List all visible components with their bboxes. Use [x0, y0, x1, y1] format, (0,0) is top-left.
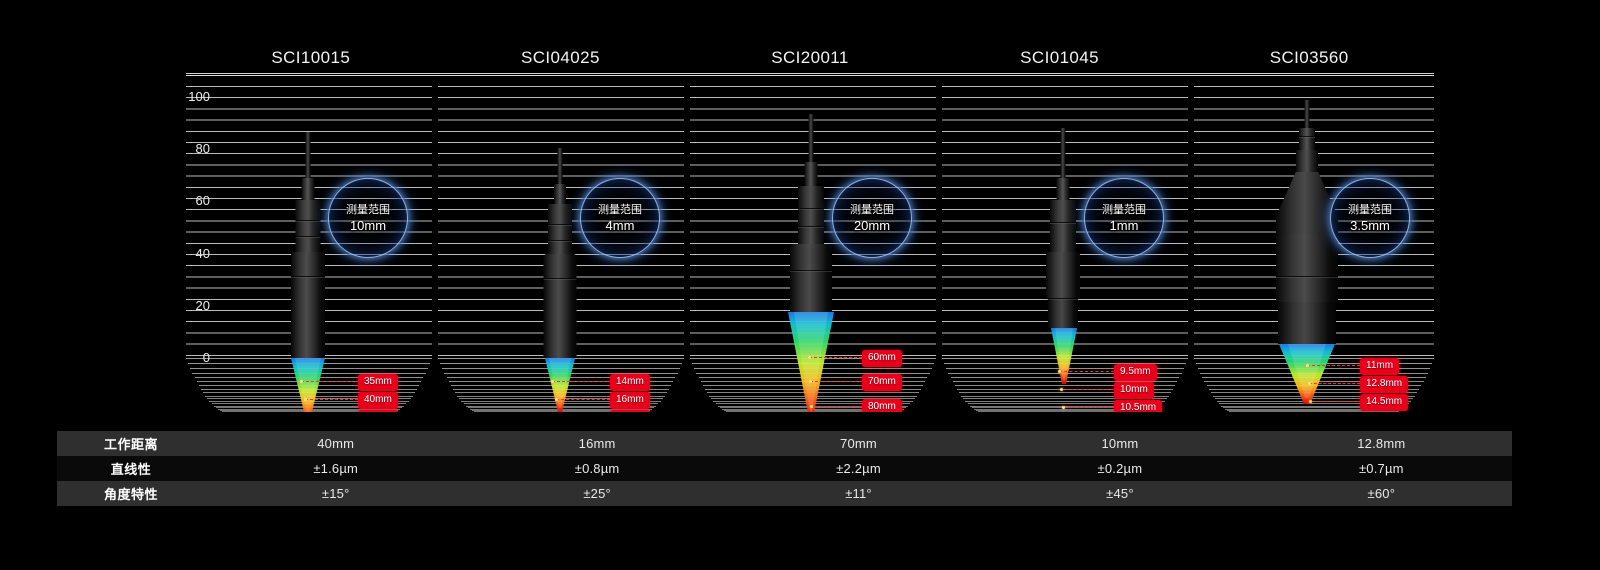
distance-badge: 10.5mm [1114, 400, 1162, 412]
table-cell: ±15° [205, 486, 466, 501]
distance-badge: 12.8mm [1360, 376, 1408, 393]
distance-badge: 11mm [1360, 358, 1399, 375]
distance-badge: 14mm [610, 374, 650, 391]
table-cell: 10mm [989, 436, 1250, 451]
sensor-probe [534, 148, 586, 358]
sensor-panel-1: 测量范围 4mm [438, 86, 684, 412]
table-row: 直线性 ±1.6µm ±0.8µm ±2.2µm ±0.2µm ±0.7µm [57, 456, 1512, 481]
measurement-range-label: 测量范围 [1102, 203, 1146, 218]
header-divider [186, 73, 1434, 77]
column-title-2: SCI20011 [685, 44, 935, 72]
measurement-range-value: 20mm [854, 218, 890, 234]
row-label-angle-characteristic: 角度特性 [57, 484, 205, 503]
light-cone [785, 312, 837, 412]
distance-badge: 80mm [862, 399, 902, 412]
table-cell: 16mm [466, 436, 727, 451]
sensor-panel-3: 测量范围 1mm [942, 86, 1188, 412]
measurement-range-value: 1mm [1110, 218, 1139, 234]
distance-badge: 35mm [358, 374, 398, 391]
column-title-1: SCI04025 [436, 44, 686, 72]
measurement-range-label: 测量范围 [1348, 203, 1392, 218]
column-title-3: SCI01045 [935, 44, 1185, 72]
light-cone [289, 358, 327, 412]
table-cell: 40mm [205, 436, 466, 451]
chart-stage: 测量范围 10mm [186, 86, 1434, 412]
measurement-range-value: 10mm [350, 218, 386, 234]
measurement-range-badge: 测量范围 3.5mm [1328, 176, 1412, 260]
distance-badge: 40mm [358, 392, 398, 409]
measurement-range-label: 测量范围 [598, 203, 642, 218]
distance-badge: 18mm [610, 410, 650, 412]
row-label-linearity: 直线性 [57, 459, 205, 478]
sensor-comparison-figure: SCI10015 SCI04025 SCI20011 SCI01045 SCI0… [0, 0, 1600, 570]
light-cone [1276, 344, 1338, 406]
distance-badge: 14.5mm [1360, 394, 1408, 411]
light-cone [1049, 328, 1079, 386]
sensor-panel-4: 测量范围 3.5mm [1194, 86, 1434, 412]
table-cell: ±0.7µm [1251, 461, 1512, 476]
table-cell: ±60° [1251, 486, 1512, 501]
sensor-probe [282, 132, 334, 358]
measurement-range-value: 3.5mm [1350, 218, 1390, 234]
specification-table: 工作距离 40mm 16mm 70mm 10mm 12.8mm 直线性 ±1.6… [57, 431, 1512, 506]
distance-badge: 70mm [862, 374, 902, 391]
measurement-range-badge: 测量范围 4mm [578, 176, 662, 260]
measurement-range-label: 测量范围 [346, 203, 390, 218]
column-title-4: SCI03560 [1184, 44, 1434, 72]
distance-badge: 9.5mm [1114, 364, 1157, 381]
distance-badge: 16mm [610, 392, 650, 409]
measurement-range-value: 4mm [606, 218, 635, 234]
table-cell: 12.8mm [1251, 436, 1512, 451]
measurement-range-badge: 测量范围 1mm [1082, 176, 1166, 260]
table-row: 角度特性 ±15° ±25° ±11° ±45° ±60° [57, 481, 1512, 506]
table-cell: ±11° [728, 486, 989, 501]
column-title-0: SCI10015 [186, 44, 436, 72]
measurement-range-label: 测量范围 [850, 203, 894, 218]
measurement-range-badge: 测量范围 10mm [326, 176, 410, 260]
table-row: 工作距离 40mm 16mm 70mm 10mm 12.8mm [57, 431, 1512, 456]
table-cell: ±0.2µm [989, 461, 1250, 476]
light-cone [543, 358, 577, 412]
measurement-range-badge: 测量范围 20mm [830, 176, 914, 260]
sensor-panel-0: 测量范围 10mm [186, 86, 432, 412]
distance-badge: 45mm [358, 410, 398, 412]
table-cell: ±45° [989, 486, 1250, 501]
distance-badge: 10mm [1114, 382, 1154, 399]
table-cell: 70mm [728, 436, 989, 451]
sensor-panel-2: 测量范围 20mm [690, 86, 936, 412]
column-header-row: SCI10015 SCI04025 SCI20011 SCI01045 SCI0… [186, 44, 1434, 72]
table-cell: ±2.2µm [728, 461, 989, 476]
table-cell: ±0.8µm [466, 461, 727, 476]
table-cell: ±1.6µm [205, 461, 466, 476]
row-label-working-distance: 工作距离 [57, 434, 205, 453]
distance-badge: 60mm [862, 350, 902, 367]
table-cell: ±25° [466, 486, 727, 501]
